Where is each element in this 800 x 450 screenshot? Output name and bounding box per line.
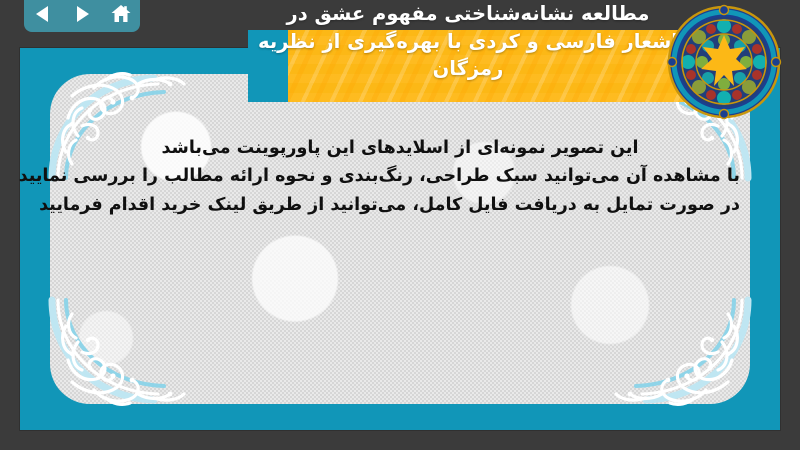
title-line: اشعار فارسی و کردی با بهره‌گیری از نظریه [258, 28, 678, 56]
slide-title: مطالعه نشانه‌شناختی مفهوم عشق در اشعار ف… [258, 0, 678, 83]
body-line: این تصویر نمونه‌ای از اسلایدهای این پاور… [60, 134, 740, 162]
slide-body-text: این تصویر نمونه‌ای از اسلایدهای این پاور… [60, 134, 740, 219]
title-line: مطالعه نشانه‌شناختی مفهوم عشق در [258, 0, 678, 28]
home-button[interactable] [108, 1, 134, 27]
slide-content-area [50, 74, 750, 404]
body-line: در صورت تمایل به دریافت فایل کامل، می‌تو… [60, 191, 740, 219]
slide-viewer: این تصویر نمونه‌ای از اسلایدهای این پاور… [0, 0, 800, 450]
next-slide-button[interactable] [69, 1, 95, 27]
body-line: با مشاهده آن می‌توانید سبک طراحی، رنگ‌بن… [60, 162, 740, 190]
title-line: رمزگان [258, 55, 678, 83]
previous-slide-button[interactable] [30, 1, 56, 27]
slide-navigation-bar[interactable] [24, 0, 140, 32]
persian-medallion-ornament-icon [666, 4, 782, 120]
